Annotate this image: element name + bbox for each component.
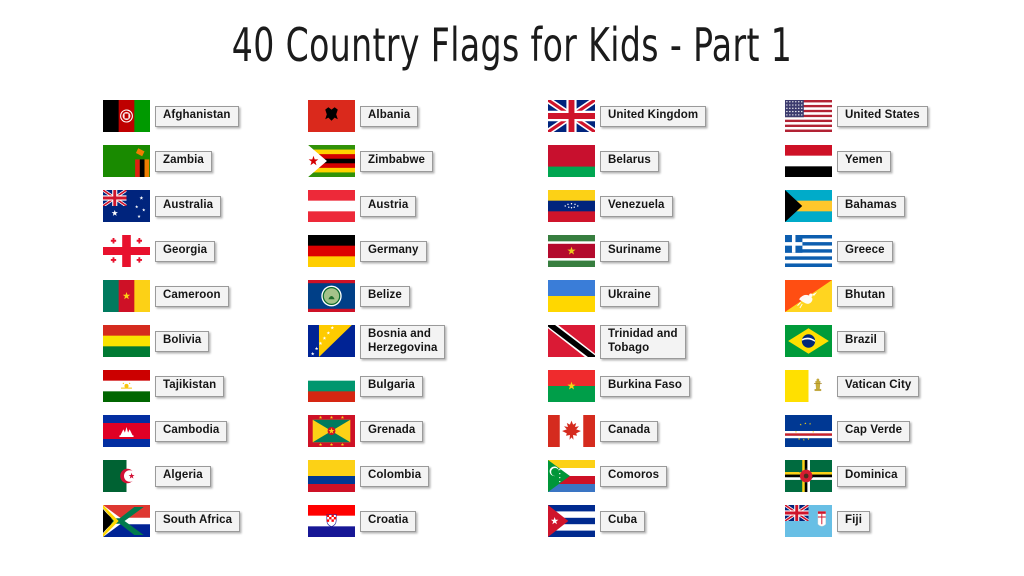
flag-row: Afghanistan (103, 98, 343, 143)
country-label[interactable]: Tajikistan (155, 376, 224, 397)
country-label[interactable]: Venezuela (600, 196, 673, 217)
flag-row: Tajikistan (103, 368, 343, 413)
flag-bolivia-icon (103, 325, 150, 357)
flag-row: Germany (308, 233, 548, 278)
flag-row: Grenada (308, 413, 548, 458)
country-label[interactable]: South Africa (155, 511, 240, 532)
flag-row: Yemen (785, 143, 1024, 188)
flag-canada-icon (548, 415, 595, 447)
flag-row: Belarus (548, 143, 788, 188)
country-label[interactable]: Germany (360, 241, 427, 262)
flag-row: Fiji (785, 503, 1024, 548)
country-label[interactable]: Suriname (600, 241, 669, 262)
flag-row: Australia (103, 188, 343, 233)
flag-grenada-icon (308, 415, 355, 447)
flag-row: Belize (308, 278, 548, 323)
flag-column-2: AlbaniaZimbabweAustriaGermanyBelizeBosni… (308, 98, 548, 548)
flag-grid: AfghanistanZambiaAustraliaGeorgiaCameroo… (0, 98, 1024, 568)
flag-row: Bosnia and Herzegovina (308, 323, 548, 368)
flag-burkina-faso-icon (548, 370, 595, 402)
flag-yemen-icon (785, 145, 832, 177)
flag-row: Albania (308, 98, 548, 143)
flag-cuba-icon (548, 505, 595, 537)
country-label[interactable]: Bosnia and Herzegovina (360, 325, 445, 359)
flag-zambia-icon (103, 145, 150, 177)
country-label[interactable]: Bhutan (837, 286, 893, 307)
country-label[interactable]: Comoros (600, 466, 667, 487)
country-label[interactable]: Cap Verde (837, 421, 910, 442)
flag-row: Colombia (308, 458, 548, 503)
flag-row: Cameroon (103, 278, 343, 323)
flag-column-3: United KingdomBelarusVenezuelaSurinameUk… (548, 98, 788, 548)
flag-row: United States (785, 98, 1024, 143)
page-title: 40 Country Flags for Kids - Part 1 (102, 18, 921, 72)
country-label[interactable]: United States (837, 106, 928, 127)
flag-algeria-icon (103, 460, 150, 492)
country-label[interactable]: Zimbabwe (360, 151, 433, 172)
country-label[interactable]: Croatia (360, 511, 416, 532)
flag-venezuela-icon (548, 190, 595, 222)
flag-trinidad-and-tobago-icon (548, 325, 595, 357)
flag-united-states-icon (785, 100, 832, 132)
flag-row: Brazil (785, 323, 1024, 368)
flag-brazil-icon (785, 325, 832, 357)
country-label[interactable]: Australia (155, 196, 221, 217)
flag-cambodia-icon (103, 415, 150, 447)
flag-cameroon-icon (103, 280, 150, 312)
flag-bosnia-and-herzegovina-icon (308, 325, 355, 357)
flag-row: Venezuela (548, 188, 788, 233)
country-label[interactable]: Cuba (600, 511, 645, 532)
flag-cap-verde-icon (785, 415, 832, 447)
flag-row: South Africa (103, 503, 343, 548)
country-label[interactable]: Grenada (360, 421, 423, 442)
flag-belarus-icon (548, 145, 595, 177)
flag-austria-icon (308, 190, 355, 222)
flag-bahamas-icon (785, 190, 832, 222)
flag-row: Bhutan (785, 278, 1024, 323)
flag-belize-icon (308, 280, 355, 312)
flag-row: Trinidad and Tobago (548, 323, 788, 368)
flag-row: Cap Verde (785, 413, 1024, 458)
country-label[interactable]: Ukraine (600, 286, 659, 307)
country-label[interactable]: Vatican City (837, 376, 919, 397)
flag-row: Bahamas (785, 188, 1024, 233)
flag-row: Vatican City (785, 368, 1024, 413)
flag-row: Burkina Faso (548, 368, 788, 413)
flag-row: Ukraine (548, 278, 788, 323)
flag-bulgaria-icon (308, 370, 355, 402)
flag-suriname-icon (548, 235, 595, 267)
flag-colombia-icon (308, 460, 355, 492)
flag-fiji-icon (785, 505, 832, 537)
flag-row: Bulgaria (308, 368, 548, 413)
flag-south-africa-icon (103, 505, 150, 537)
flag-row: Austria (308, 188, 548, 233)
country-label[interactable]: Afghanistan (155, 106, 239, 127)
flag-row: Cambodia (103, 413, 343, 458)
flag-afghanistan-icon (103, 100, 150, 132)
flag-row: Canada (548, 413, 788, 458)
flag-croatia-icon (308, 505, 355, 537)
country-label[interactable]: Yemen (837, 151, 891, 172)
flag-row: Georgia (103, 233, 343, 278)
flag-row: Zambia (103, 143, 343, 188)
flag-australia-icon (103, 190, 150, 222)
flag-column-4: United StatesYemenBahamasGreeceBhutanBra… (785, 98, 1024, 548)
flag-row: Zimbabwe (308, 143, 548, 188)
country-label[interactable]: United Kingdom (600, 106, 706, 127)
flag-germany-icon (308, 235, 355, 267)
country-label[interactable]: Belize (360, 286, 410, 307)
flag-comoros-icon (548, 460, 595, 492)
country-label[interactable]: Colombia (360, 466, 429, 487)
flag-bhutan-icon (785, 280, 832, 312)
country-label[interactable]: Austria (360, 196, 416, 217)
flag-column-1: AfghanistanZambiaAustraliaGeorgiaCameroo… (103, 98, 343, 548)
country-label[interactable]: Greece (837, 241, 893, 262)
country-label[interactable]: Georgia (155, 241, 215, 262)
flag-tajikistan-icon (103, 370, 150, 402)
flag-row: Suriname (548, 233, 788, 278)
flag-albania-icon (308, 100, 355, 132)
country-label[interactable]: Trinidad and Tobago (600, 325, 686, 359)
country-label[interactable]: Belarus (600, 151, 659, 172)
country-label[interactable]: Bahamas (837, 196, 905, 217)
flag-row: Bolivia (103, 323, 343, 368)
country-label[interactable]: Cameroon (155, 286, 229, 307)
flag-ukraine-icon (548, 280, 595, 312)
flag-row: Dominica (785, 458, 1024, 503)
flag-greece-icon (785, 235, 832, 267)
flag-row: Algeria (103, 458, 343, 503)
country-label[interactable]: Fiji (837, 511, 870, 532)
country-label[interactable]: Albania (360, 106, 418, 127)
flag-row: Comoros (548, 458, 788, 503)
flag-row: United Kingdom (548, 98, 788, 143)
country-label[interactable]: Canada (600, 421, 658, 442)
flag-dominica-icon (785, 460, 832, 492)
country-label[interactable]: Brazil (837, 331, 885, 352)
flag-row: Cuba (548, 503, 788, 548)
country-label[interactable]: Zambia (155, 151, 212, 172)
country-label[interactable]: Cambodia (155, 421, 227, 442)
flag-zimbabwe-icon (308, 145, 355, 177)
country-label[interactable]: Burkina Faso (600, 376, 690, 397)
country-label[interactable]: Dominica (837, 466, 906, 487)
flag-row: Greece (785, 233, 1024, 278)
country-label[interactable]: Bulgaria (360, 376, 423, 397)
country-label[interactable]: Bolivia (155, 331, 209, 352)
country-label[interactable]: Algeria (155, 466, 211, 487)
flag-united-kingdom-icon (548, 100, 595, 132)
flag-georgia-icon (103, 235, 150, 267)
flag-row: Croatia (308, 503, 548, 548)
flag-vatican-city-icon (785, 370, 832, 402)
